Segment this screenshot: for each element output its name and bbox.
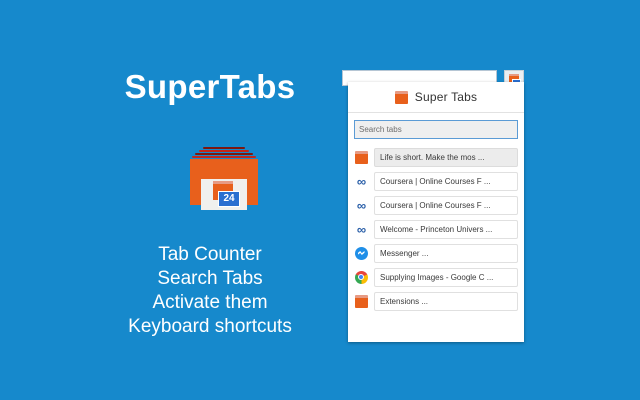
- logo-stripe: [192, 156, 256, 158]
- tab-list-item[interactable]: ∞ Coursera | Online Courses F ...: [348, 193, 524, 217]
- coursera-icon: ∞: [354, 222, 368, 236]
- popup-title: Super Tabs: [415, 90, 478, 104]
- chrome-glyph: [355, 271, 368, 284]
- tab-title: Life is short. Make the mos ...: [374, 148, 518, 167]
- box-body: [395, 94, 408, 104]
- tab-count-badge: 24: [218, 191, 240, 207]
- supertabs-box-icon: [354, 150, 368, 164]
- promo-banner: SuperTabs 24 Tab Counter Search Tabs Act…: [0, 0, 640, 400]
- tab-title: Coursera | Online Courses F ...: [374, 172, 518, 191]
- coursera-icon: ∞: [354, 198, 368, 212]
- tab-title: Coursera | Online Courses F ...: [374, 196, 518, 215]
- tab-list-item[interactable]: ∞ Coursera | Online Courses F ...: [348, 169, 524, 193]
- tab-title: Welcome - Princeton Univers ...: [374, 220, 518, 239]
- search-container: [348, 113, 524, 143]
- box-shape: [355, 151, 368, 164]
- tab-list-item[interactable]: Messenger ...: [348, 241, 524, 265]
- tab-title: Extensions ...: [374, 292, 518, 311]
- supertabs-box-icon: [395, 91, 408, 104]
- tab-list-item[interactable]: ∞ Welcome - Princeton Univers ...: [348, 217, 524, 241]
- tab-list: Life is short. Make the mos ... ∞ Course…: [348, 143, 524, 317]
- search-input[interactable]: [354, 120, 518, 139]
- coursera-glyph: ∞: [357, 199, 365, 212]
- tab-list-item[interactable]: Extensions ...: [348, 289, 524, 313]
- coursera-glyph: ∞: [357, 223, 365, 236]
- coursera-icon: ∞: [354, 174, 368, 188]
- tab-list-item[interactable]: Life is short. Make the mos ...: [348, 145, 524, 169]
- logo-box-shape: 24: [190, 159, 258, 205]
- box-body: [355, 154, 368, 164]
- extension-popup: Super Tabs Life is short. Make the mos .…: [348, 82, 524, 342]
- supertabs-box-icon: [354, 294, 368, 308]
- tab-title: Supplying Images - Google C ...: [374, 268, 518, 287]
- popup-header: Super Tabs: [348, 82, 524, 113]
- coursera-glyph: ∞: [357, 175, 365, 188]
- browser-toolbar: [342, 70, 538, 82]
- box-shape: [355, 295, 368, 308]
- logo-stripe: [195, 153, 253, 155]
- supertabs-logo-icon: 24: [190, 147, 258, 205]
- logo-stripe: [203, 147, 245, 149]
- box-body: [355, 298, 368, 308]
- logo-stripe: [199, 150, 249, 152]
- messenger-bubble: [355, 247, 368, 260]
- tab-list-item[interactable]: Supplying Images - Google C ...: [348, 265, 524, 289]
- chrome-icon: [354, 270, 368, 284]
- messenger-icon: [354, 246, 368, 260]
- logo-inner-panel: 24: [201, 179, 247, 210]
- tab-title: Messenger ...: [374, 244, 518, 263]
